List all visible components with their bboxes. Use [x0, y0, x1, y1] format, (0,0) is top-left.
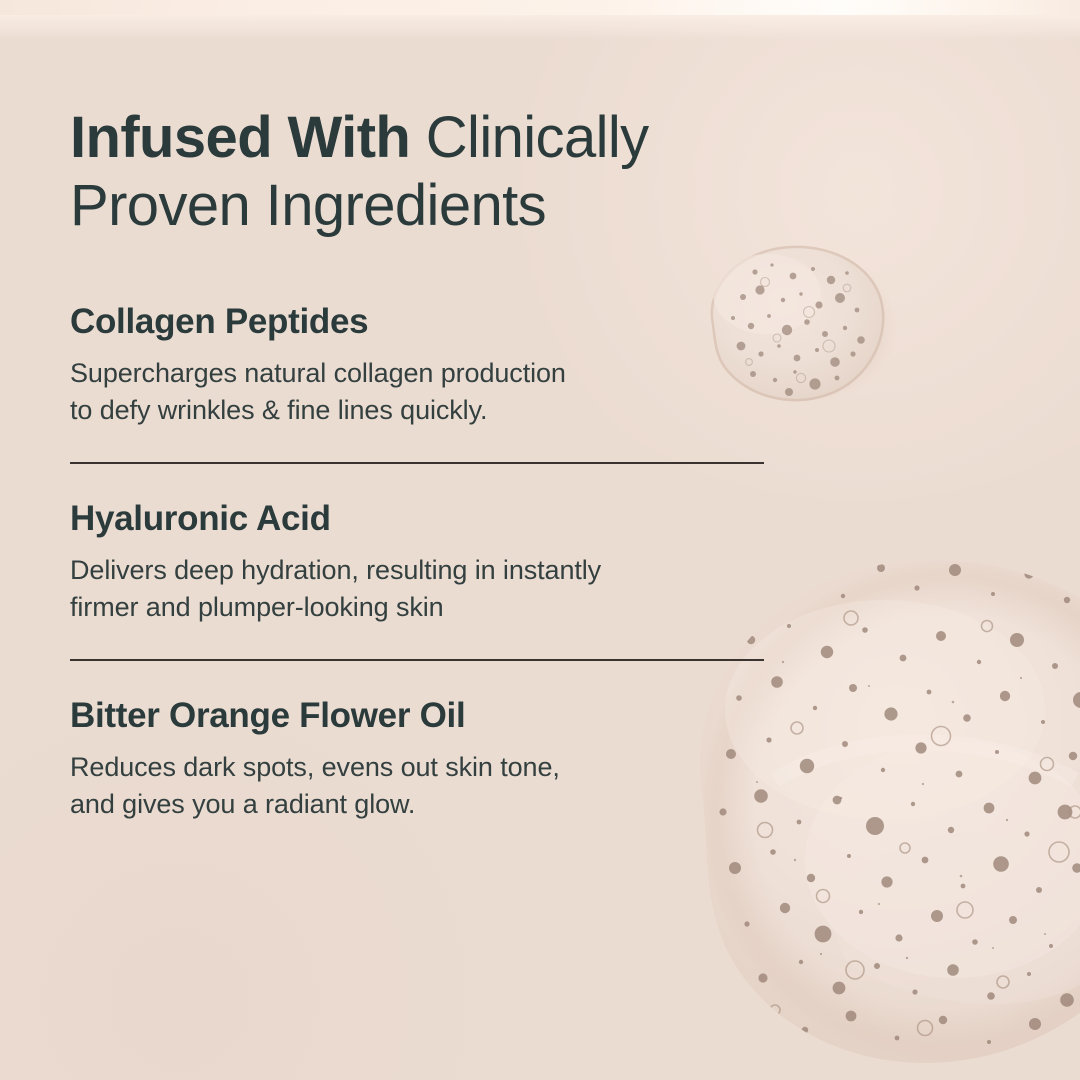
ingredient-list: Collagen Peptides Supercharges natural c…: [70, 303, 764, 823]
content-column: Infused With Clinically Proven Ingredien…: [70, 0, 810, 823]
list-item: Hyaluronic Acid Delivers deep hydration,…: [70, 500, 764, 626]
headline-bold-part: Infused With: [70, 105, 410, 170]
ingredient-name: Bitter Orange Flower Oil: [70, 697, 764, 736]
list-item: Collagen Peptides Supercharges natural c…: [70, 303, 764, 429]
list-divider: [70, 659, 764, 661]
ingredient-description: Reduces dark spots, evens out skin tone,…: [70, 749, 764, 822]
ingredient-feature-poster: Infused With Clinically Proven Ingredien…: [0, 0, 1080, 1080]
ingredient-name: Hyaluronic Acid: [70, 500, 764, 539]
ingredient-description: Supercharges natural collagen production…: [70, 355, 764, 428]
list-divider: [70, 462, 764, 464]
page-title: Infused With Clinically Proven Ingredien…: [70, 0, 790, 241]
list-item: Bitter Orange Flower Oil Reduces dark sp…: [70, 697, 764, 823]
ingredient-description: Delivers deep hydration, resulting in in…: [70, 552, 764, 625]
ingredient-name: Collagen Peptides: [70, 303, 764, 342]
